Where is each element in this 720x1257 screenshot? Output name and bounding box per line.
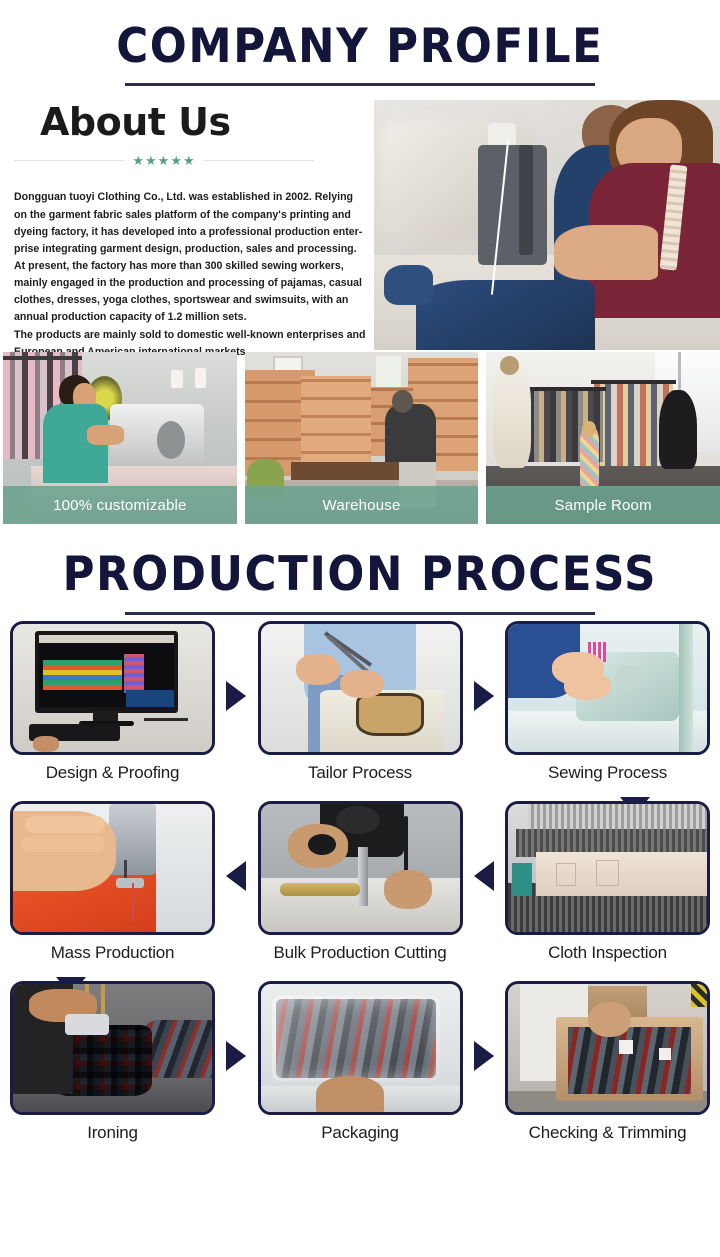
about-us-heading: About Us (14, 100, 366, 144)
star-divider: ★★★★★ (14, 154, 314, 167)
facility-thumb-caption: Warehouse (245, 486, 479, 524)
process-step-photo (505, 801, 710, 935)
production-process-header: PRODUCTION PROCESS (0, 528, 720, 614)
process-step-checking-trimming: Checking & Trimming (505, 981, 710, 1143)
arrow-left-icon (226, 861, 246, 891)
process-step-photo (10, 981, 215, 1115)
process-step-photo (258, 801, 463, 935)
divider-rule-right (204, 160, 314, 161)
process-row-2: Mass Production Bulk Product (10, 801, 710, 981)
about-paragraph-1: Dongguan tuoyi Clothing Co., Ltd. was es… (14, 189, 366, 258)
divider-rule-left (14, 160, 124, 161)
company-profile-header: COMPANY PROFILE (0, 0, 720, 86)
process-title: PRODUCTION PROCESS (29, 550, 691, 599)
about-us-photo (374, 100, 720, 350)
arrow-right-icon (226, 1041, 246, 1071)
process-row-1: Design & Proofing Tailor Process (10, 621, 710, 801)
process-step-label: Checking & Trimming (529, 1123, 687, 1143)
arrow-right-icon (474, 1041, 494, 1071)
process-step-label: Ironing (87, 1123, 138, 1143)
facility-thumb-warehouse: Warehouse (245, 352, 479, 524)
process-step-tailor: Tailor Process (258, 621, 463, 783)
process-step-label: Mass Production (51, 943, 175, 963)
process-step-label: Sewing Process (548, 763, 667, 783)
arrow-right-icon (226, 681, 246, 711)
arrow-left-icon (474, 861, 494, 891)
process-step-photo (10, 621, 215, 755)
process-step-sewing: Sewing Process (505, 621, 710, 783)
process-step-bulk-cutting: Bulk Production Cutting (258, 801, 463, 963)
facility-thumb-caption: 100% customizable (3, 486, 237, 524)
process-step-design-proofing: Design & Proofing (10, 621, 215, 783)
about-us-section: About Us ★★★★★ Dongguan tuoyi Clothing C… (0, 86, 720, 348)
process-step-label: Tailor Process (308, 763, 412, 783)
process-step-cloth-inspection: Cloth Inspection (505, 801, 710, 963)
process-step-label: Design & Proofing (46, 763, 180, 783)
five-stars-icon: ★★★★★ (132, 154, 195, 167)
page-title: COMPANY PROFILE (29, 22, 691, 71)
process-step-ironing: Ironing (10, 981, 215, 1143)
facility-thumb-sample-room: Sample Room (486, 352, 720, 524)
process-step-photo (10, 801, 215, 935)
arrow-right-icon (474, 681, 494, 711)
process-step-photo (258, 981, 463, 1115)
process-step-photo (505, 981, 710, 1115)
about-paragraph-2: At present, the factory has more than 30… (14, 258, 366, 327)
process-step-photo (505, 621, 710, 755)
process-step-label: Cloth Inspection (548, 943, 667, 963)
about-description: Dongguan tuoyi Clothing Co., Ltd. was es… (14, 189, 366, 361)
facility-thumb-caption: Sample Room (486, 486, 720, 524)
process-row-3: Ironing Packaging (10, 981, 710, 1161)
process-step-packaging: Packaging (258, 981, 463, 1143)
process-step-label: Packaging (321, 1123, 399, 1143)
process-title-underline (125, 612, 595, 615)
process-step-photo (258, 621, 463, 755)
about-text-column: About Us ★★★★★ Dongguan tuoyi Clothing C… (14, 100, 366, 361)
facility-thumb-customizable: 100% customizable (3, 352, 237, 524)
process-step-mass-production: Mass Production (10, 801, 215, 963)
facility-thumbnail-band: 100% customizable Warehouse (0, 352, 720, 528)
process-step-label: Bulk Production Cutting (273, 943, 446, 963)
production-process-grid: Design & Proofing Tailor Process (0, 621, 720, 1161)
